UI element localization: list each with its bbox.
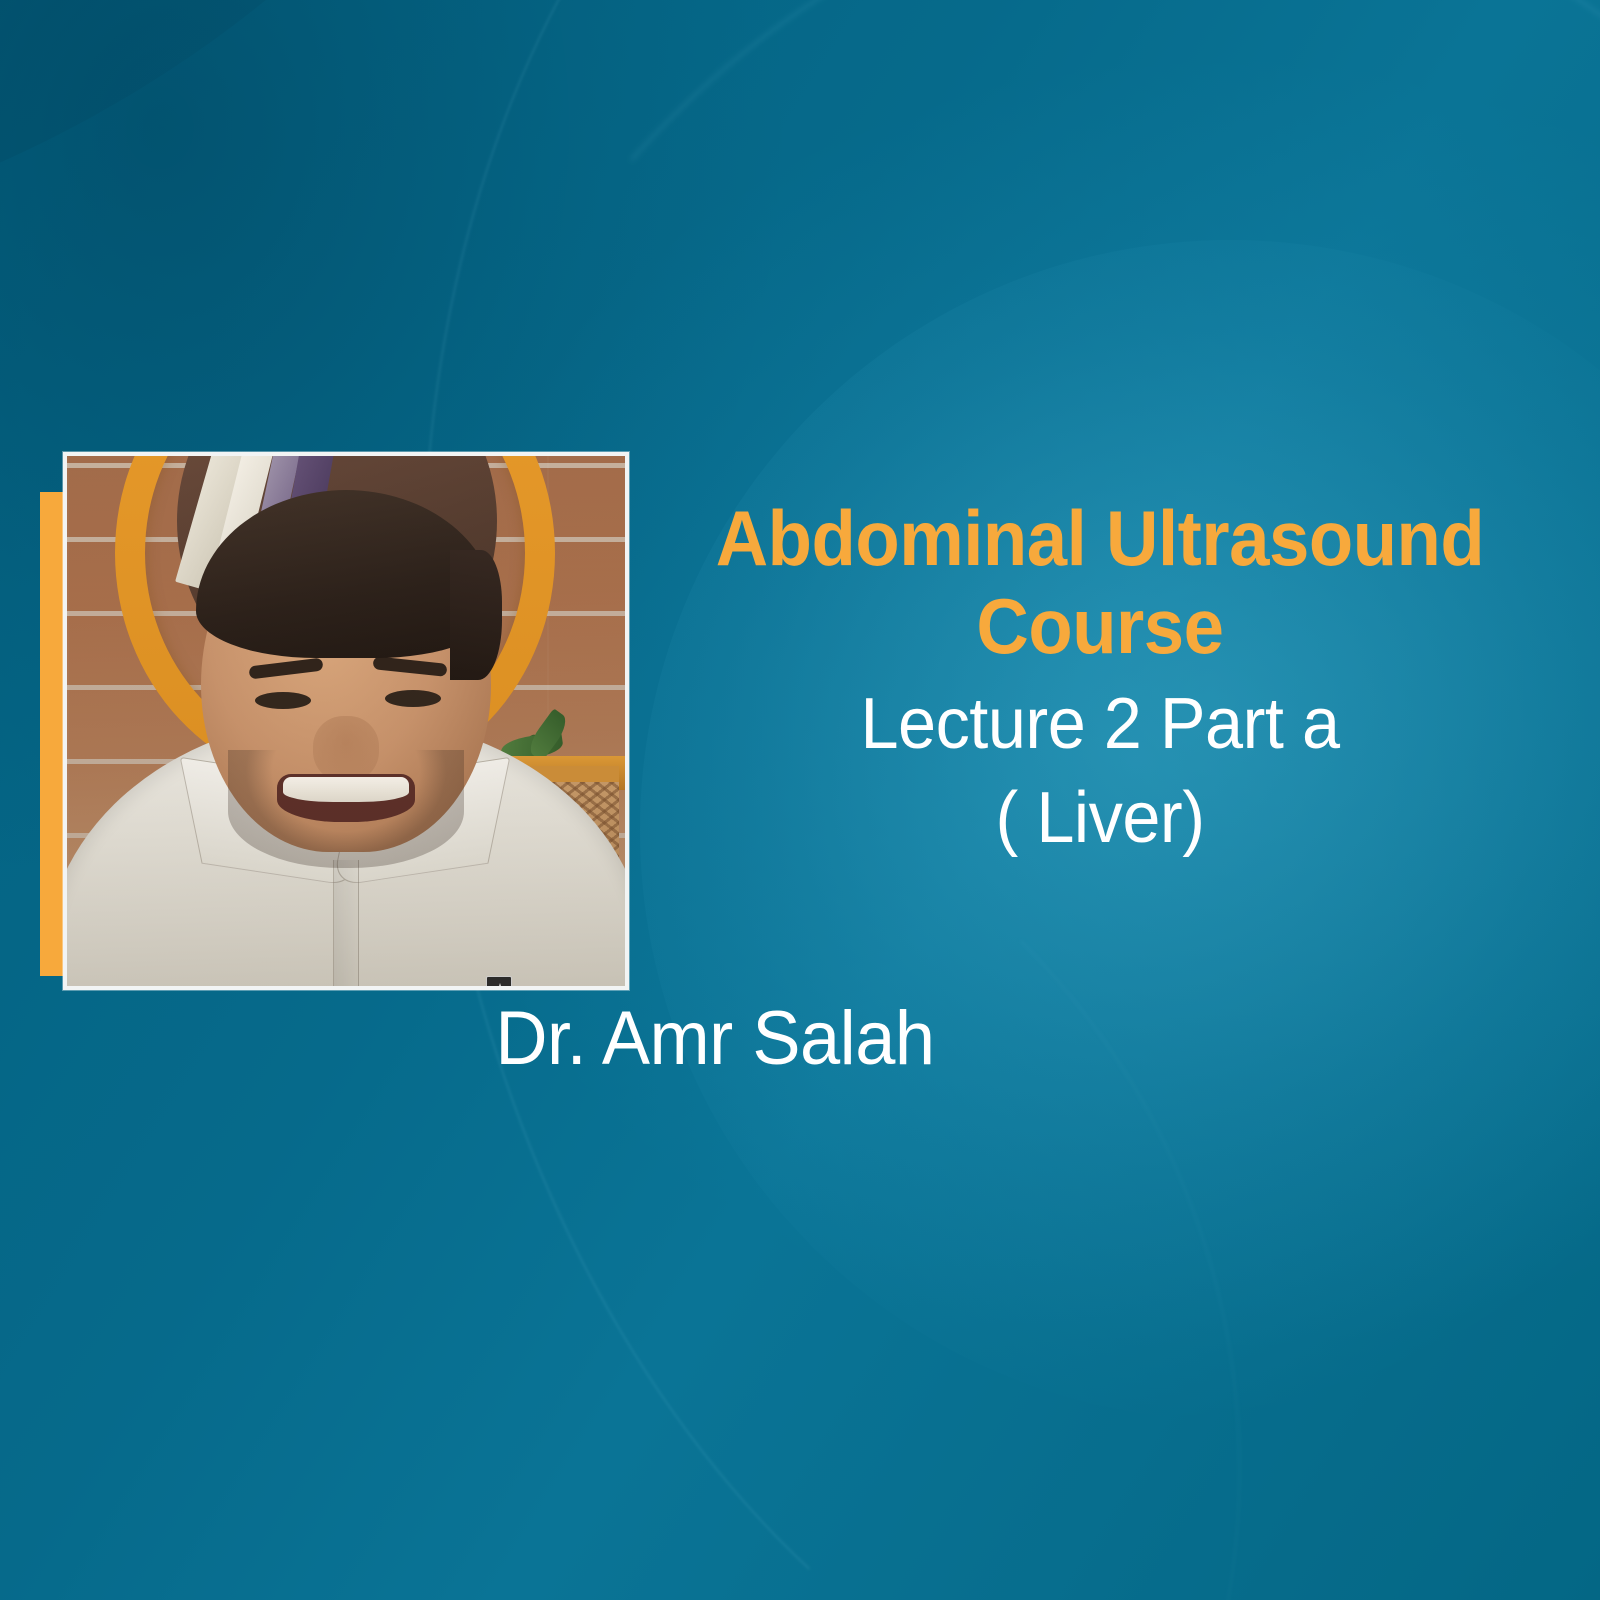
- title-slide: Abdominal Ultrasound Course Lecture 2 Pa…: [0, 0, 1600, 1600]
- lecture-subtitle: Lecture 2 Part a: [663, 678, 1537, 772]
- eye-right: [385, 690, 441, 707]
- course-title: Abdominal Ultrasound Course: [672, 494, 1528, 670]
- eyebrow-right: [373, 656, 448, 677]
- eyebrow-left: [248, 658, 323, 680]
- lecture-topic: ( Liver): [663, 772, 1537, 866]
- title-text-block: Abdominal Ultrasound Course Lecture 2 Pa…: [640, 494, 1560, 865]
- polo-placket: [333, 860, 359, 986]
- eye-left: [255, 692, 311, 709]
- mouth: [277, 774, 415, 822]
- presenter-photo-frame: [63, 452, 629, 990]
- pen-badge: [486, 976, 512, 986]
- background-corner-arc: [0, 0, 620, 280]
- teeth: [283, 777, 409, 802]
- presenter-photo: [67, 456, 625, 986]
- presenter-name: Dr. Amr Salah: [321, 995, 1110, 1082]
